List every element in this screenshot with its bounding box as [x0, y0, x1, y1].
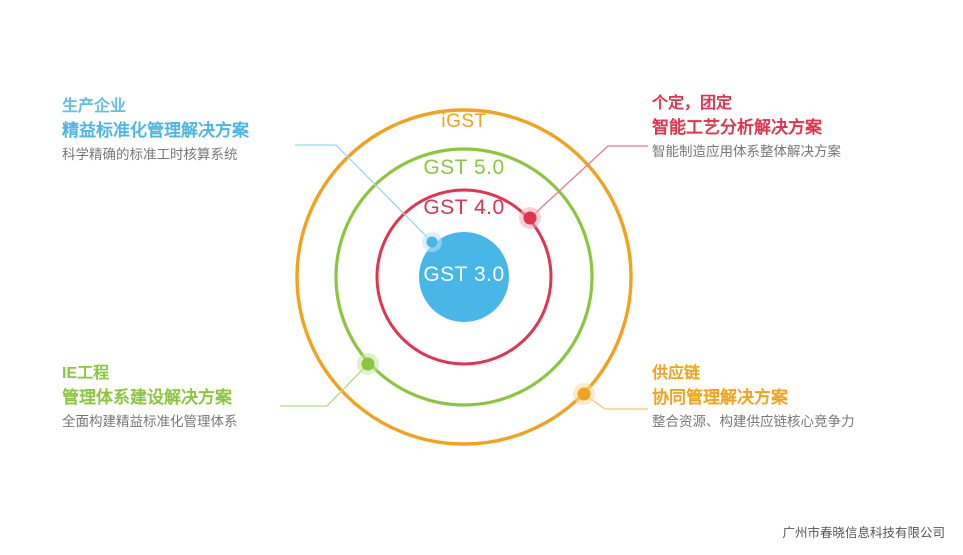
blue-node-dot[interactable]: [427, 237, 438, 248]
green-node-dot[interactable]: [362, 358, 375, 371]
callout-supply[interactable]: 供应链 协同管理解决方案 整合资源、构建供应链核心竞争力: [652, 363, 855, 433]
callout-ie-sub: 全面构建精益标准化管理体系: [62, 411, 238, 433]
diagram-canvas: iGST GST 5.0 GST 4.0 GST 3.0 生产企业 精益标准化管…: [0, 0, 963, 555]
callout-production-sub: 科学精确的标准工时核算系统: [62, 144, 249, 166]
callout-ie-headline: 管理体系建设解决方案: [62, 385, 238, 411]
callout-ie[interactable]: IE工程 管理体系建设解决方案 全面构建精益标准化管理体系: [62, 363, 238, 433]
footer-company-name: 广州市春晓信息科技有限公司: [782, 522, 945, 541]
ring-label-gst30: GST 3.0: [423, 263, 504, 287]
callout-process-eyebrow: 个定，团定: [652, 93, 841, 115]
ring-label-gst50: GST 5.0: [423, 156, 504, 180]
callout-process-sub: 智能制造应用体系整体解决方案: [652, 141, 841, 163]
ring-label-igst: iGST: [441, 111, 486, 133]
callout-ie-eyebrow: IE工程: [62, 363, 238, 385]
callout-process[interactable]: 个定，团定 智能工艺分析解决方案 智能制造应用体系整体解决方案: [652, 93, 841, 163]
callout-production-eyebrow: 生产企业: [62, 96, 249, 118]
callout-supply-eyebrow: 供应链: [652, 363, 855, 385]
callout-supply-headline: 协同管理解决方案: [652, 385, 855, 411]
callout-production-headline: 精益标准化管理解决方案: [62, 118, 249, 144]
callout-process-headline: 智能工艺分析解决方案: [652, 115, 841, 141]
orange-node-dot[interactable]: [578, 388, 591, 401]
callout-supply-sub: 整合资源、构建供应链核心竞争力: [652, 411, 855, 433]
callout-production[interactable]: 生产企业 精益标准化管理解决方案 科学精确的标准工时核算系统: [62, 96, 249, 166]
ring-label-gst40: GST 4.0: [423, 196, 504, 220]
red-node-dot[interactable]: [524, 212, 537, 225]
